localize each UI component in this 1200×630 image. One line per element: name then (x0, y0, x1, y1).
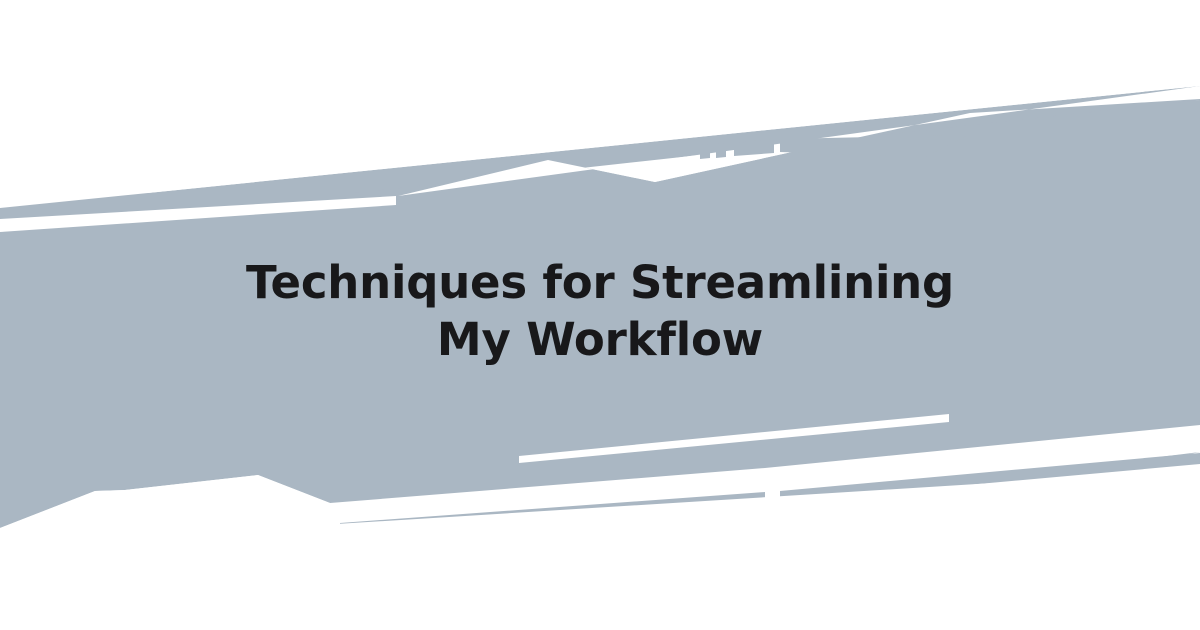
top-right-dash-1-icon (700, 144, 710, 159)
top-right-dash-2-icon (716, 143, 726, 158)
background-artwork (0, 0, 1200, 630)
banner-canvas: Techniques for Streamlining My Workflow (0, 0, 1200, 630)
